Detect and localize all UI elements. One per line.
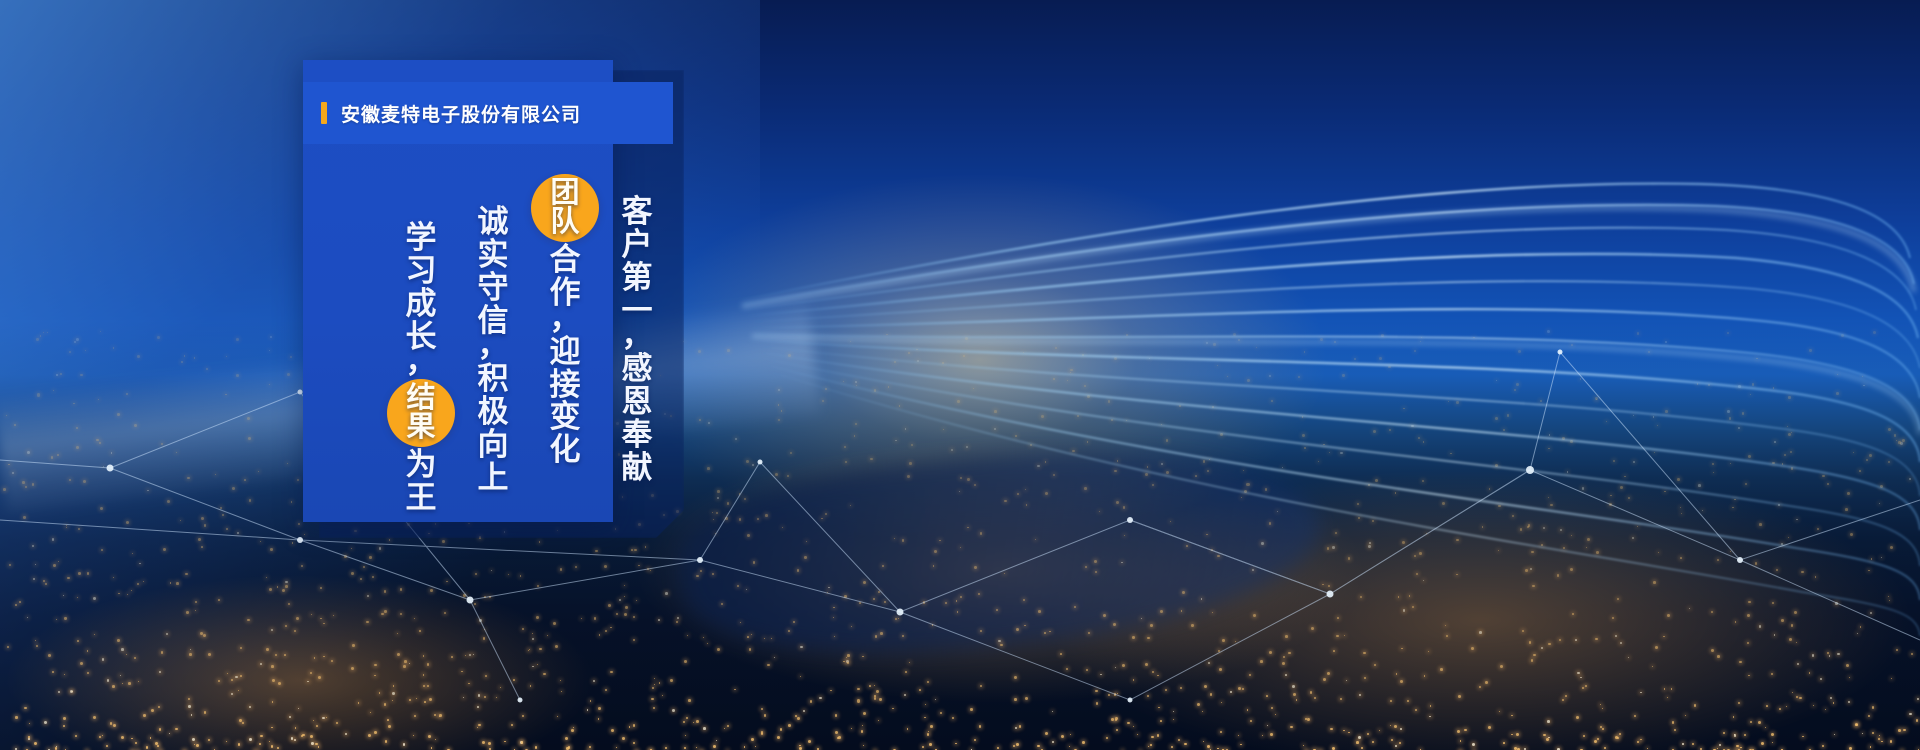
slogan-char: 奉 — [622, 419, 653, 452]
values-card: 安徽麦特电子股份有限公司 客户第一，感恩奉献团队合作，迎接变化诚实守信，积极向上… — [303, 60, 673, 530]
slogan-char: 接 — [550, 369, 581, 402]
badge-char: 果 — [406, 413, 435, 442]
slogan-column-teamwork: 团队合作，迎接变化 — [529, 160, 601, 560]
company-name: 安徽麦特电子股份有限公司 — [341, 100, 581, 127]
slogan-comma: ， — [622, 327, 653, 353]
slogan-char: 化 — [550, 434, 581, 467]
slogan-char: 成 — [406, 288, 437, 321]
badge-char: 队 — [550, 208, 579, 237]
slogan-char: 学 — [406, 222, 437, 255]
slogan-char: 户 — [622, 229, 653, 262]
slogan-char: 合 — [550, 244, 581, 277]
slogan-char: 为 — [406, 449, 437, 482]
slogan-char: 上 — [478, 462, 509, 495]
slogan-column-integrity: 诚实守信，积极向上 — [457, 160, 529, 560]
slogan-column-customer-first: 客户第一，感恩奉献 — [601, 160, 673, 560]
slogan-char: 第 — [622, 262, 653, 295]
slogan-char: 积 — [478, 363, 509, 396]
slogan-char: 感 — [622, 353, 653, 386]
slogan-char: 献 — [622, 452, 653, 485]
highlight-badge-icon: 团队 — [531, 174, 599, 242]
slogan-columns: 客户第一，感恩奉献团队合作，迎接变化诚实守信，积极向上学习成长，结果为王 — [303, 160, 673, 560]
slogan-comma: ， — [406, 353, 437, 379]
slogan-char: 恩 — [622, 386, 653, 419]
slogan-char: 守 — [478, 272, 509, 305]
slogan-char: 客 — [622, 196, 653, 229]
slogan-char: 实 — [478, 239, 509, 272]
slogan-column-growth: 学习成长，结果为王 — [385, 160, 457, 560]
banner-stage: 安徽麦特电子股份有限公司 客户第一，感恩奉献团队合作，迎接变化诚实守信，积极向上… — [0, 0, 1920, 750]
card-header: 安徽麦特电子股份有限公司 — [303, 82, 673, 144]
slogan-char: 迎 — [550, 336, 581, 369]
highlight-badge-icon: 结果 — [387, 379, 455, 447]
slogan-char: 向 — [478, 429, 509, 462]
slogan-char: 王 — [406, 482, 437, 515]
slogan-comma: ， — [478, 337, 509, 363]
slogan-char: 诚 — [478, 206, 509, 239]
city-light-dots — [0, 320, 1920, 750]
slogan-char: 变 — [550, 401, 581, 434]
slogan-char: 极 — [478, 396, 509, 429]
badge-char: 结 — [406, 384, 435, 413]
slogan-comma: ， — [550, 310, 581, 336]
slogan-char: 习 — [406, 255, 437, 288]
accent-bar-icon — [321, 102, 327, 124]
badge-char: 团 — [550, 179, 579, 208]
